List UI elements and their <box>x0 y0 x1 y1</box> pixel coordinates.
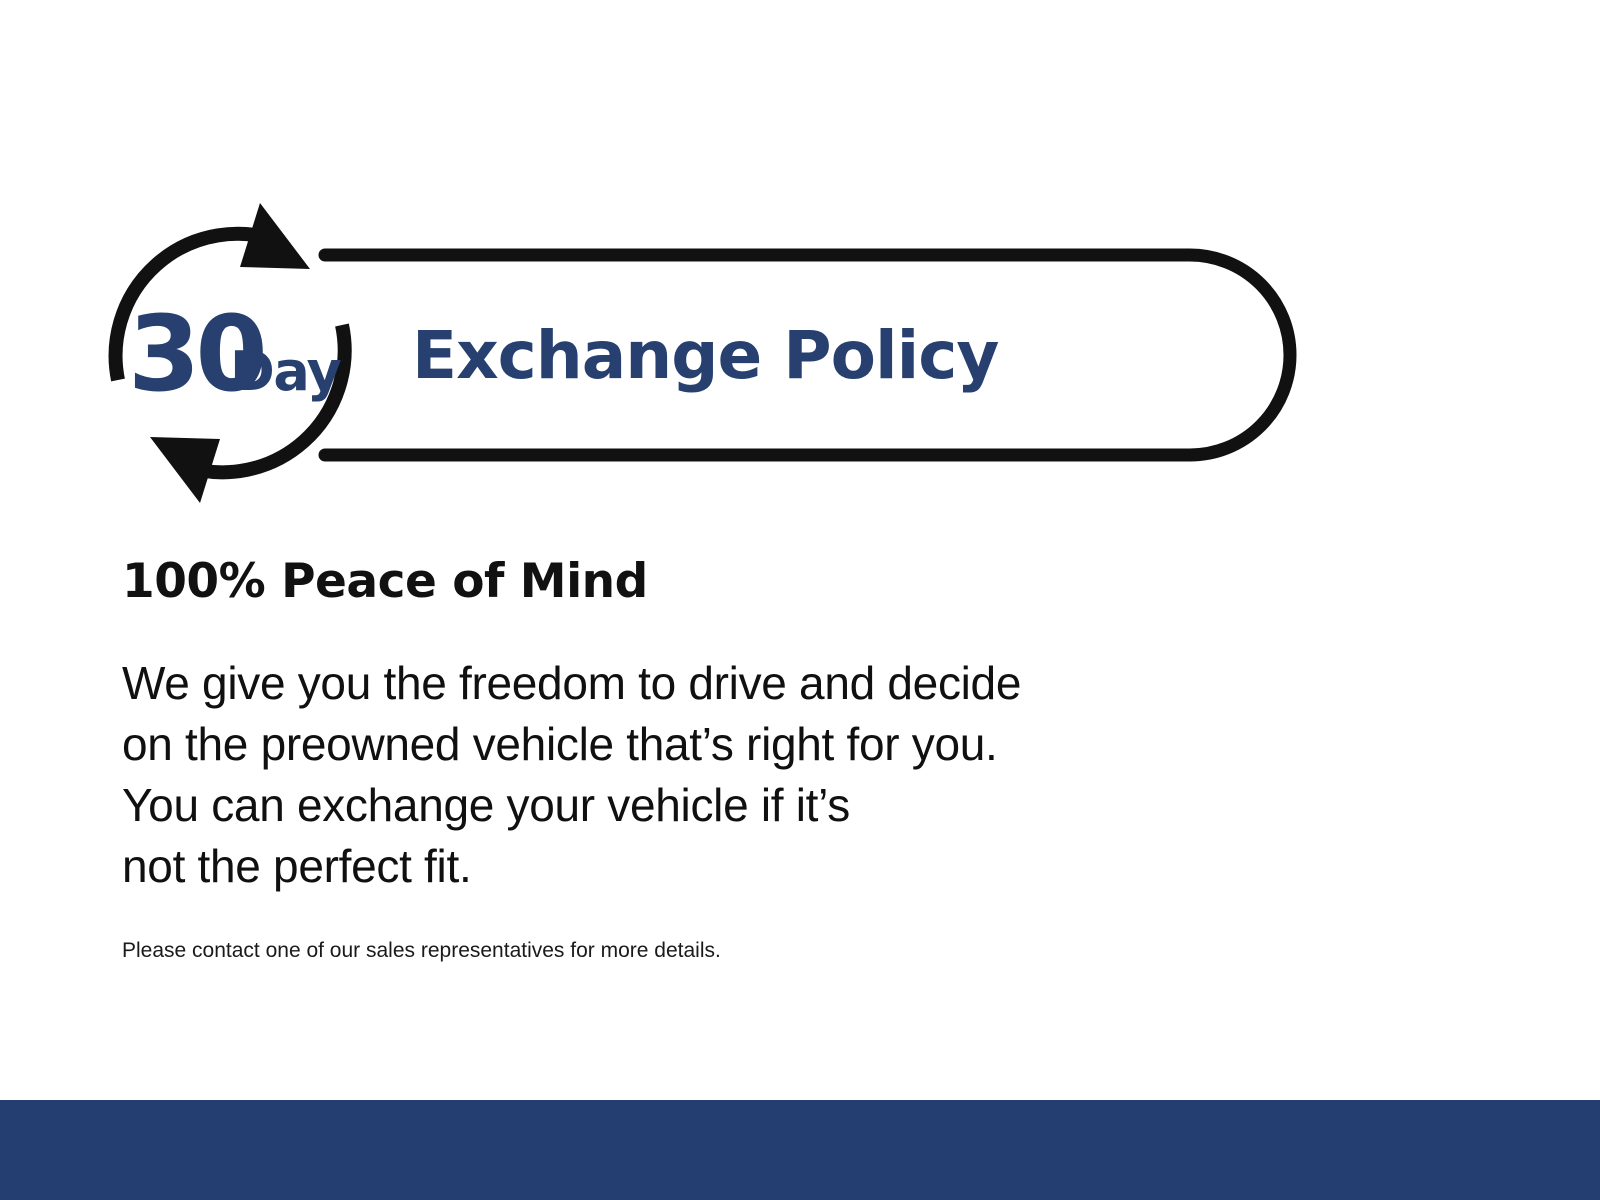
paragraph-line: You can exchange your vehicle if it’s <box>122 775 1372 836</box>
content-block: 100% Peace of Mind We give you the freed… <box>122 558 1372 963</box>
slide-root: 30 Day Exchange Policy 100% Peace of Min… <box>0 0 1600 1200</box>
arrow-head-upper <box>240 203 310 269</box>
exchange-policy-badge: 30 Day Exchange Policy <box>90 185 1320 505</box>
body-paragraph: We give you the freedom to drive and dec… <box>122 605 1372 897</box>
arrow-head-lower <box>150 437 220 503</box>
paragraph-line: not the perfect fit. <box>122 836 1372 897</box>
paragraph-line: We give you the freedom to drive and dec… <box>122 653 1372 714</box>
badge-graphic: 30 Day Exchange Policy <box>90 185 1320 505</box>
badge-title: Exchange Policy <box>412 317 998 394</box>
headline: 100% Peace of Mind <box>122 558 1372 605</box>
bottom-accent-bar <box>0 1100 1600 1200</box>
paragraph-line: on the preowned vehicle that’s right for… <box>122 714 1372 775</box>
footnote-disclaimer: Please contact one of our sales represen… <box>122 897 1372 963</box>
badge-days-unit: Day <box>230 340 342 403</box>
